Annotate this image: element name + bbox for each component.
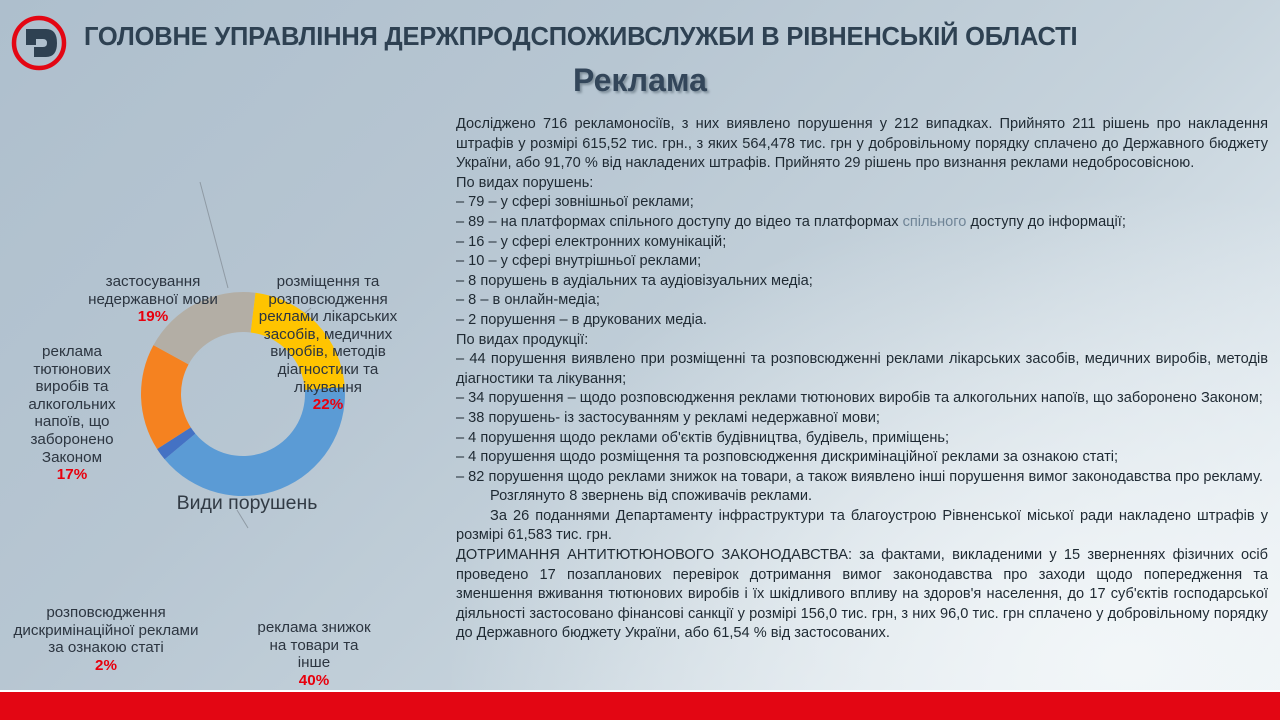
product-item: – 34 порушення – щодо розповсюдження рек…: [456, 389, 1268, 409]
heading-violations: По видах порушень:: [456, 174, 1268, 194]
report-text-panel: Досліджено 716 рекламоносіїв, з них вияв…: [456, 115, 1268, 644]
violation-item: – 8 – в онлайн-медіа;: [456, 291, 1268, 311]
chart-label-tobacco-pct: 17%: [8, 466, 136, 484]
slide-title: Реклама: [0, 62, 1280, 99]
paragraph-submissions: За 26 поданнями Департаменту інфраструкт…: [456, 507, 1268, 546]
chart-label-discrimination-text: розповсюдження дискримінаційної реклами …: [14, 604, 199, 656]
footer-bar: [0, 692, 1280, 720]
chart-label-medical: розміщення та розповсюдження реклами лік…: [250, 273, 406, 414]
violation-item: – 10 – у сфері внутрішньої реклами;: [456, 252, 1268, 272]
page-title: ГОЛОВНЕ УПРАВЛІННЯ ДЕРЖПРОДСПОЖИВСЛУЖБИ …: [84, 23, 1274, 52]
chart-label-medical-pct: 22%: [250, 396, 406, 414]
chart-label-discounts-text: реклама знижок на товари та інше: [257, 619, 370, 671]
product-item: – 38 порушень- із застосуванням у реклам…: [456, 409, 1268, 429]
violation-item-platforms: – 89 – на платформах спільного доступу д…: [456, 213, 1268, 233]
paragraph-antitobacco: ДОТРИМАННЯ АНТИТЮТЮНОВОГО ЗАКОНОДАВСТВА:…: [456, 546, 1268, 644]
violation-item: – 16 – у сфері електронних комунікацій;: [456, 233, 1268, 253]
violation-platforms-part-a: – 89 – на платформах спільного доступу д…: [456, 214, 903, 230]
paragraph-appeals: Розглянуто 8 звернень від споживачів рек…: [456, 487, 1268, 507]
chart-label-language-text: застосування недержавної мови: [88, 273, 218, 308]
chart-label-discounts-pct: 40%: [253, 672, 375, 690]
violation-item: – 2 порушення – в друкованих медіа.: [456, 311, 1268, 331]
chart-label-language-pct: 19%: [88, 308, 218, 326]
page-header: ГОЛОВНЕ УПРАВЛІННЯ ДЕРЖПРОДСПОЖИВСЛУЖБИ …: [0, 0, 1280, 70]
donut-center-label: Види порушень: [163, 492, 331, 515]
violation-item: – 79 – у сфері зовнішньої реклами;: [456, 193, 1268, 213]
product-item: – 4 порушення щодо розміщення та розповс…: [456, 448, 1268, 468]
chart-label-discrimination-pct: 2%: [6, 657, 206, 675]
chart-label-tobacco-text: реклама тютюнових виробів та алкогольних…: [28, 343, 115, 466]
chart-label-medical-text: розміщення та розповсюдження реклами лік…: [259, 273, 398, 396]
product-item: – 82 порушення щодо реклами знижок на то…: [456, 468, 1268, 488]
violation-platforms-part-b: доступу до інформації;: [966, 214, 1125, 230]
product-item: – 4 порушення щодо реклами об'єктів буді…: [456, 429, 1268, 449]
violation-platforms-highlight: спільного: [903, 214, 967, 230]
violations-donut-chart: Види порушень застосування недержавної м…: [0, 110, 450, 685]
chart-label-language: застосування недержавної мови 19%: [88, 273, 218, 326]
heading-products: По видах продукції:: [456, 331, 1268, 351]
paragraph-intro: Досліджено 716 рекламоносіїв, з них вияв…: [456, 115, 1268, 174]
chart-label-tobacco: реклама тютюнових виробів та алкогольних…: [8, 343, 136, 484]
violation-item: – 8 порушень в аудіальних та аудіовізуал…: [456, 272, 1268, 292]
product-item: – 44 порушення виявлено при розміщенні т…: [456, 350, 1268, 389]
chart-label-discrimination: розповсюдження дискримінаційної реклами …: [6, 604, 206, 674]
chart-label-discounts: реклама знижок на товари та інше 40%: [253, 619, 375, 689]
